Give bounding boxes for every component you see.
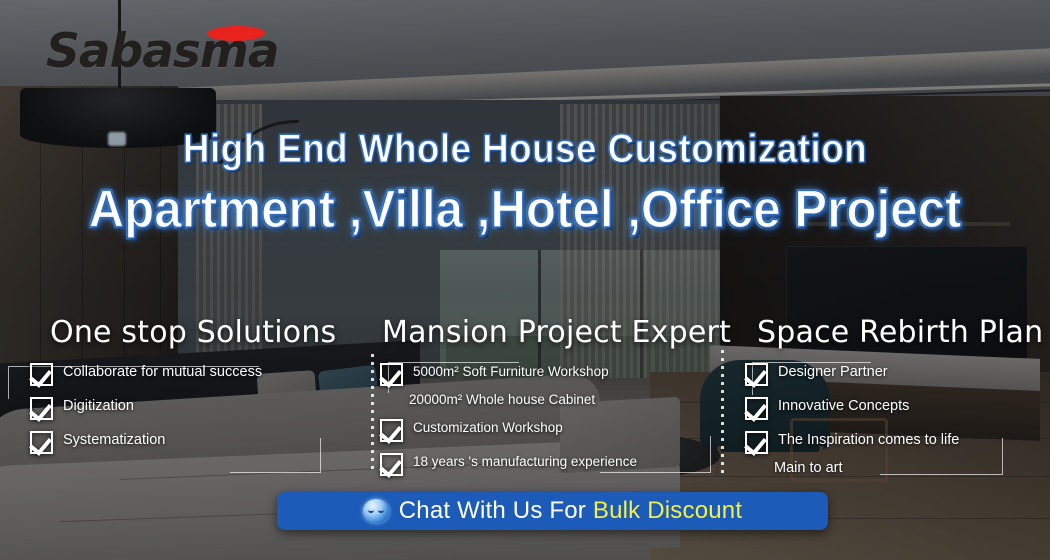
- column-divider-1: [371, 354, 374, 472]
- cta-label-primary: Chat With Us For: [399, 497, 593, 524]
- list-item-label: Designer Partner: [778, 362, 888, 384]
- list-item[interactable]: Designer Partner: [745, 362, 1045, 386]
- list-item[interactable]: Digitization: [30, 396, 360, 420]
- check-icon: [380, 419, 403, 442]
- list-item[interactable]: 18 years 's manufacturing experience: [380, 452, 710, 476]
- column-1-title: One stop Solutions: [50, 318, 360, 348]
- check-icon: [380, 453, 403, 476]
- list-item-label: 18 years 's manufacturing experience: [413, 452, 637, 472]
- check-icon: [745, 397, 768, 420]
- column-2-items: 5000m² Soft Furniture Workshop 20000m² W…: [380, 362, 710, 476]
- chat-cta-button[interactable]: Chat With Us For Bulk Discount: [277, 492, 828, 530]
- list-item-label: Customization Workshop: [413, 418, 563, 438]
- check-icon: [30, 397, 53, 420]
- promo-banner: Sabasma High End Whole House Customizati…: [0, 0, 1050, 560]
- list-item[interactable]: Systematization: [30, 430, 360, 454]
- column-1-items: Collaborate for mutual success Digitizat…: [30, 362, 360, 454]
- list-item-label: 5000m² Soft Furniture Workshop: [413, 362, 609, 382]
- headline-line-1: High End Whole House Customization: [42, 128, 1008, 170]
- feature-column-1: One stop Solutions Collaborate for mutua…: [30, 318, 360, 464]
- list-item[interactable]: 5000m² Soft Furniture Workshop: [380, 362, 710, 386]
- feature-column-3: Space Rebirth Plan Designer Partner Inno…: [745, 318, 1045, 488]
- list-item-label: Systematization: [63, 430, 165, 452]
- brand-logo: Sabasma: [46, 28, 279, 75]
- list-item-sublabel: Main to art: [774, 458, 1045, 480]
- check-icon: [380, 363, 403, 386]
- check-icon: [30, 363, 53, 386]
- list-item[interactable]: Innovative Concepts: [745, 396, 1045, 420]
- check-icon: [30, 431, 53, 454]
- chat-smiley-icon: [363, 499, 389, 523]
- column-3-title: Space Rebirth Plan: [757, 318, 1045, 348]
- headline-line-2: Apartment ,Villa ,Hotel ,Office Project: [37, 182, 1014, 238]
- list-item[interactable]: The Inspiration comes to life: [745, 430, 1045, 454]
- column-3-items: Designer Partner Innovative Concepts The…: [745, 362, 1045, 480]
- list-item-label: The Inspiration comes to life: [778, 430, 959, 452]
- feature-column-2: Mansion Project Expert 5000m² Soft Furni…: [380, 318, 710, 486]
- list-item-label: Innovative Concepts: [778, 396, 909, 418]
- list-item-label: Digitization: [63, 396, 134, 418]
- cta-label-highlight: Bulk Discount: [593, 497, 742, 524]
- list-item-label: Collaborate for mutual success: [63, 362, 262, 384]
- feature-columns: One stop Solutions Collaborate for mutua…: [0, 318, 1050, 488]
- cta-label: Chat With Us For Bulk Discount: [399, 497, 742, 525]
- check-icon: [745, 431, 768, 454]
- column-2-title: Mansion Project Expert: [382, 318, 710, 348]
- check-icon: [745, 363, 768, 386]
- list-item[interactable]: Collaborate for mutual success: [30, 362, 360, 386]
- headline-block: High End Whole House Customization Apart…: [0, 128, 1050, 238]
- column-divider-2: [721, 350, 724, 476]
- list-item-sublabel: 20000m² Whole house Cabinet: [409, 390, 710, 410]
- list-item[interactable]: Customization Workshop: [380, 418, 710, 442]
